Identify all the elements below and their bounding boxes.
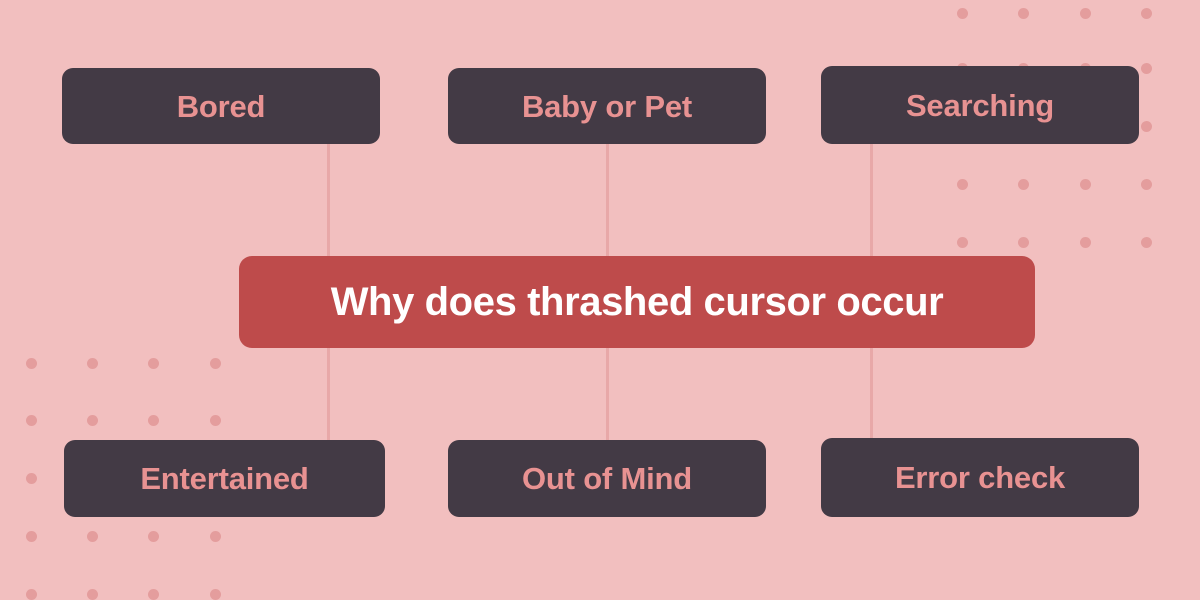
node-entertained-label: Entertained bbox=[140, 463, 308, 494]
node-bored-label: Bored bbox=[177, 91, 266, 122]
decorative-dot bbox=[1141, 8, 1152, 19]
node-out-of-mind-label: Out of Mind bbox=[522, 463, 692, 494]
node-searching-label: Searching bbox=[906, 90, 1054, 121]
decorative-dot bbox=[1018, 179, 1029, 190]
decorative-dot bbox=[957, 237, 968, 248]
decorative-dot bbox=[148, 358, 159, 369]
decorative-dot bbox=[1080, 237, 1091, 248]
decorative-dot bbox=[210, 415, 221, 426]
decorative-dot bbox=[87, 589, 98, 600]
decorative-dot bbox=[87, 415, 98, 426]
decorative-dot bbox=[1080, 179, 1091, 190]
node-bored[interactable]: Bored bbox=[62, 68, 380, 144]
decorative-dot bbox=[1141, 121, 1152, 132]
node-out-of-mind[interactable]: Out of Mind bbox=[448, 440, 766, 517]
node-baby-or-pet[interactable]: Baby or Pet bbox=[448, 68, 766, 144]
decorative-dot bbox=[26, 531, 37, 542]
mind-map-canvas: Bored Baby or Pet Searching Why does thr… bbox=[0, 0, 1200, 600]
central-topic-label: Why does thrashed cursor occur bbox=[331, 282, 944, 322]
decorative-dot bbox=[148, 415, 159, 426]
node-baby-or-pet-label: Baby or Pet bbox=[522, 91, 692, 122]
decorative-dot bbox=[148, 589, 159, 600]
decorative-dot bbox=[1141, 179, 1152, 190]
decorative-dot bbox=[1018, 237, 1029, 248]
decorative-dot bbox=[1141, 63, 1152, 74]
node-entertained[interactable]: Entertained bbox=[64, 440, 385, 517]
decorative-dot bbox=[1080, 8, 1091, 19]
decorative-dot bbox=[87, 531, 98, 542]
decorative-dot bbox=[26, 358, 37, 369]
decorative-dot bbox=[210, 589, 221, 600]
dot-pattern-top-right bbox=[0, 0, 1200, 300]
decorative-dot bbox=[26, 589, 37, 600]
decorative-dot bbox=[210, 531, 221, 542]
central-topic[interactable]: Why does thrashed cursor occur bbox=[239, 256, 1035, 348]
decorative-dot bbox=[26, 473, 37, 484]
decorative-dot bbox=[210, 358, 221, 369]
decorative-dot bbox=[26, 415, 37, 426]
decorative-dot bbox=[1018, 8, 1029, 19]
decorative-dot bbox=[87, 358, 98, 369]
decorative-dot bbox=[957, 8, 968, 19]
node-error-check[interactable]: Error check bbox=[821, 438, 1139, 517]
node-error-check-label: Error check bbox=[895, 462, 1065, 493]
node-searching[interactable]: Searching bbox=[821, 66, 1139, 144]
decorative-dot bbox=[957, 179, 968, 190]
decorative-dot bbox=[148, 531, 159, 542]
decorative-dot bbox=[1141, 237, 1152, 248]
